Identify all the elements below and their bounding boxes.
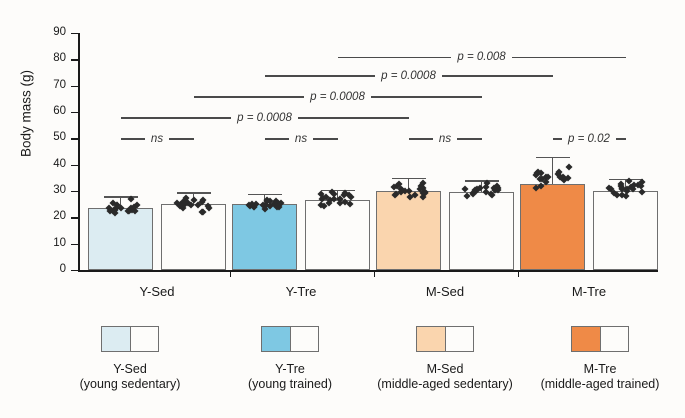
bar-y-tre-solid: [232, 204, 297, 270]
legend-swatch-icon: [101, 326, 159, 352]
bar-y-sed-solid: [88, 208, 153, 270]
legend-item-m-sed[interactable]: M-Sed(middle-aged sedentary): [360, 326, 530, 392]
legend-label: Y-Sed: [45, 362, 215, 377]
significance-bracket: p = 0.0008: [194, 91, 482, 103]
x-tick: [374, 271, 375, 277]
y-tick: [71, 86, 78, 87]
y-tick: [71, 112, 78, 113]
bracket-line-right: [512, 57, 626, 59]
significance-bracket: p = 0.02: [553, 133, 626, 145]
bracket-line-left: [194, 96, 305, 98]
data-point: [565, 164, 572, 171]
y-tick-label: 90: [36, 26, 66, 38]
y-tick: [71, 270, 78, 271]
legend-item-y-sed[interactable]: Y-Sed(young sedentary): [45, 326, 215, 392]
error-bar-cap: [536, 157, 570, 158]
error-bar-cap: [465, 180, 499, 181]
significance-bracket: ns: [265, 133, 338, 145]
bracket-line-left: [121, 117, 232, 119]
legend-item-y-tre[interactable]: Y-Tre(young trained): [205, 326, 375, 392]
bracket-line-left: [338, 57, 452, 59]
significance-bracket: p = 0.0008: [265, 70, 553, 82]
significance-label: p = 0.0008: [375, 70, 442, 82]
legend-swatch-icon: [261, 326, 319, 352]
bracket-line-right: [371, 96, 482, 98]
legend-swatch-hatched: [130, 327, 158, 351]
error-bar-cap: [248, 194, 282, 195]
bracket-line-right: [298, 117, 409, 119]
bracket-line-left: [265, 75, 376, 77]
y-tick-label: 30: [36, 184, 66, 196]
y-tick: [71, 244, 78, 245]
legend-description: (middle-aged sedentary): [360, 377, 530, 392]
y-tick: [71, 33, 78, 34]
legend-swatch-hatched: [445, 327, 473, 351]
bracket-line-right: [313, 138, 337, 140]
significance-bracket: ns: [409, 133, 482, 145]
y-tick: [71, 59, 78, 60]
chart-legend: Y-Sed(young sedentary)Y-Tre(young traine…: [0, 326, 685, 418]
y-tick-label: 20: [36, 210, 66, 222]
y-tick: [71, 217, 78, 218]
bar-y-tre-hatched: [305, 200, 370, 270]
legend-description: (middle-aged trained): [515, 377, 685, 392]
legend-description: (young trained): [205, 377, 375, 392]
significance-bracket: p = 0.008: [338, 51, 626, 63]
significance-label: ns: [433, 133, 457, 145]
bracket-line-right: [457, 138, 481, 140]
bar-m-sed-solid: [376, 191, 441, 270]
significance-label: p = 0.0008: [304, 91, 371, 103]
significance-bracket: ns: [121, 133, 194, 145]
error-bar: [552, 157, 553, 185]
y-axis-title: Body mass (g): [19, 44, 34, 184]
bar-y-sed-hatched: [161, 204, 226, 270]
significance-bracket: p = 0.0008: [121, 112, 409, 124]
bar-m-sed-hatched: [449, 192, 514, 270]
significance-label: ns: [289, 133, 313, 145]
significance-label: ns: [145, 133, 169, 145]
bracket-line-right: [169, 138, 193, 140]
bracket-line-right: [442, 75, 553, 77]
significance-label: p = 0.02: [562, 133, 616, 145]
legend-swatch-hatched: [290, 327, 318, 351]
y-tick-label: 70: [36, 79, 66, 91]
bracket-line-left: [409, 138, 433, 140]
body-mass-bar-chart: Body mass (g) 0102030405060708090 Y-SedY…: [0, 0, 685, 418]
x-axis-label-y-sed: Y-Sed: [102, 284, 212, 299]
error-bar-cap: [177, 192, 211, 193]
y-tick-label: 80: [36, 52, 66, 64]
significance-label: p = 0.0008: [231, 112, 298, 124]
y-tick: [71, 191, 78, 192]
x-axis-label-m-tre: M-Tre: [534, 284, 644, 299]
x-axis-line: [78, 270, 658, 272]
x-tick: [518, 271, 519, 277]
legend-swatch-solid: [572, 327, 600, 351]
y-tick-label: 60: [36, 105, 66, 117]
bracket-line-left: [121, 138, 145, 140]
y-tick: [71, 165, 78, 166]
x-tick: [230, 271, 231, 277]
y-tick-label: 50: [36, 131, 66, 143]
legend-item-m-tre[interactable]: M-Tre(middle-aged trained): [515, 326, 685, 392]
y-tick: [71, 138, 78, 139]
bracket-line-left: [553, 138, 563, 140]
legend-swatch-icon: [416, 326, 474, 352]
error-bar-cap: [321, 190, 355, 191]
legend-swatch-solid: [417, 327, 445, 351]
bracket-line-left: [265, 138, 289, 140]
error-bar-cap: [392, 178, 426, 179]
bar-m-tre-solid: [520, 184, 585, 270]
y-tick-label: 0: [36, 263, 66, 275]
y-tick-label: 10: [36, 237, 66, 249]
legend-label: M-Tre: [515, 362, 685, 377]
legend-swatch-icon: [571, 326, 629, 352]
x-axis-label-m-sed: M-Sed: [390, 284, 500, 299]
bar-m-tre-hatched: [593, 191, 658, 270]
significance-label: p = 0.008: [451, 51, 511, 63]
legend-swatch-hatched: [600, 327, 628, 351]
legend-label: Y-Tre: [205, 362, 375, 377]
x-axis-label-y-tre: Y-Tre: [246, 284, 356, 299]
y-tick-label: 40: [36, 158, 66, 170]
legend-swatch-solid: [102, 327, 130, 351]
legend-label: M-Sed: [360, 362, 530, 377]
y-axis-line: [78, 33, 80, 271]
legend-swatch-solid: [262, 327, 290, 351]
legend-description: (young sedentary): [45, 377, 215, 392]
bracket-line-right: [616, 138, 626, 140]
